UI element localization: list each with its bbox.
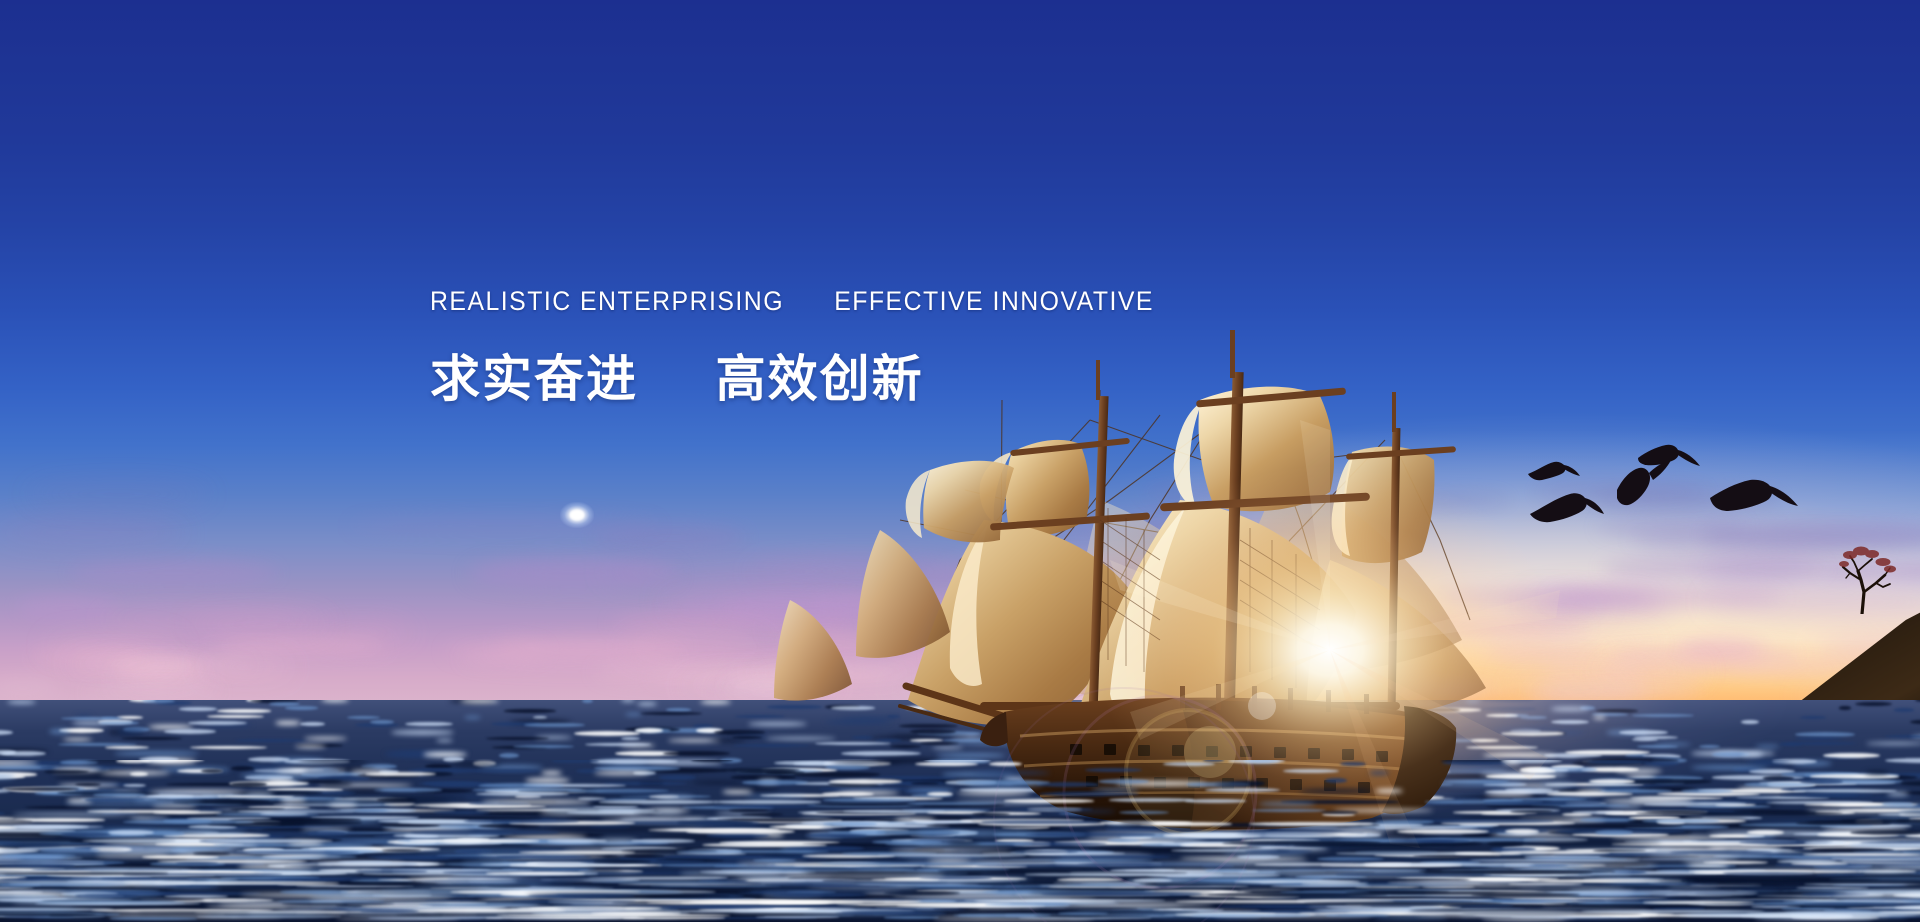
headline-block: REALISTIC ENTERPRISING EFFECTIVE INNOVAT… bbox=[430, 286, 1150, 411]
foreground-waves bbox=[0, 760, 1920, 922]
tagline-english: REALISTIC ENTERPRISING EFFECTIVE INNOVAT… bbox=[430, 286, 1092, 317]
sail bbox=[923, 461, 1014, 543]
tagline-chinese: 求实奋进 高效创新 bbox=[430, 339, 1150, 411]
sail bbox=[856, 530, 950, 658]
sail bbox=[774, 600, 852, 701]
hero-banner: REALISTIC ENTERPRISING EFFECTIVE INNOVAT… bbox=[0, 0, 1920, 922]
